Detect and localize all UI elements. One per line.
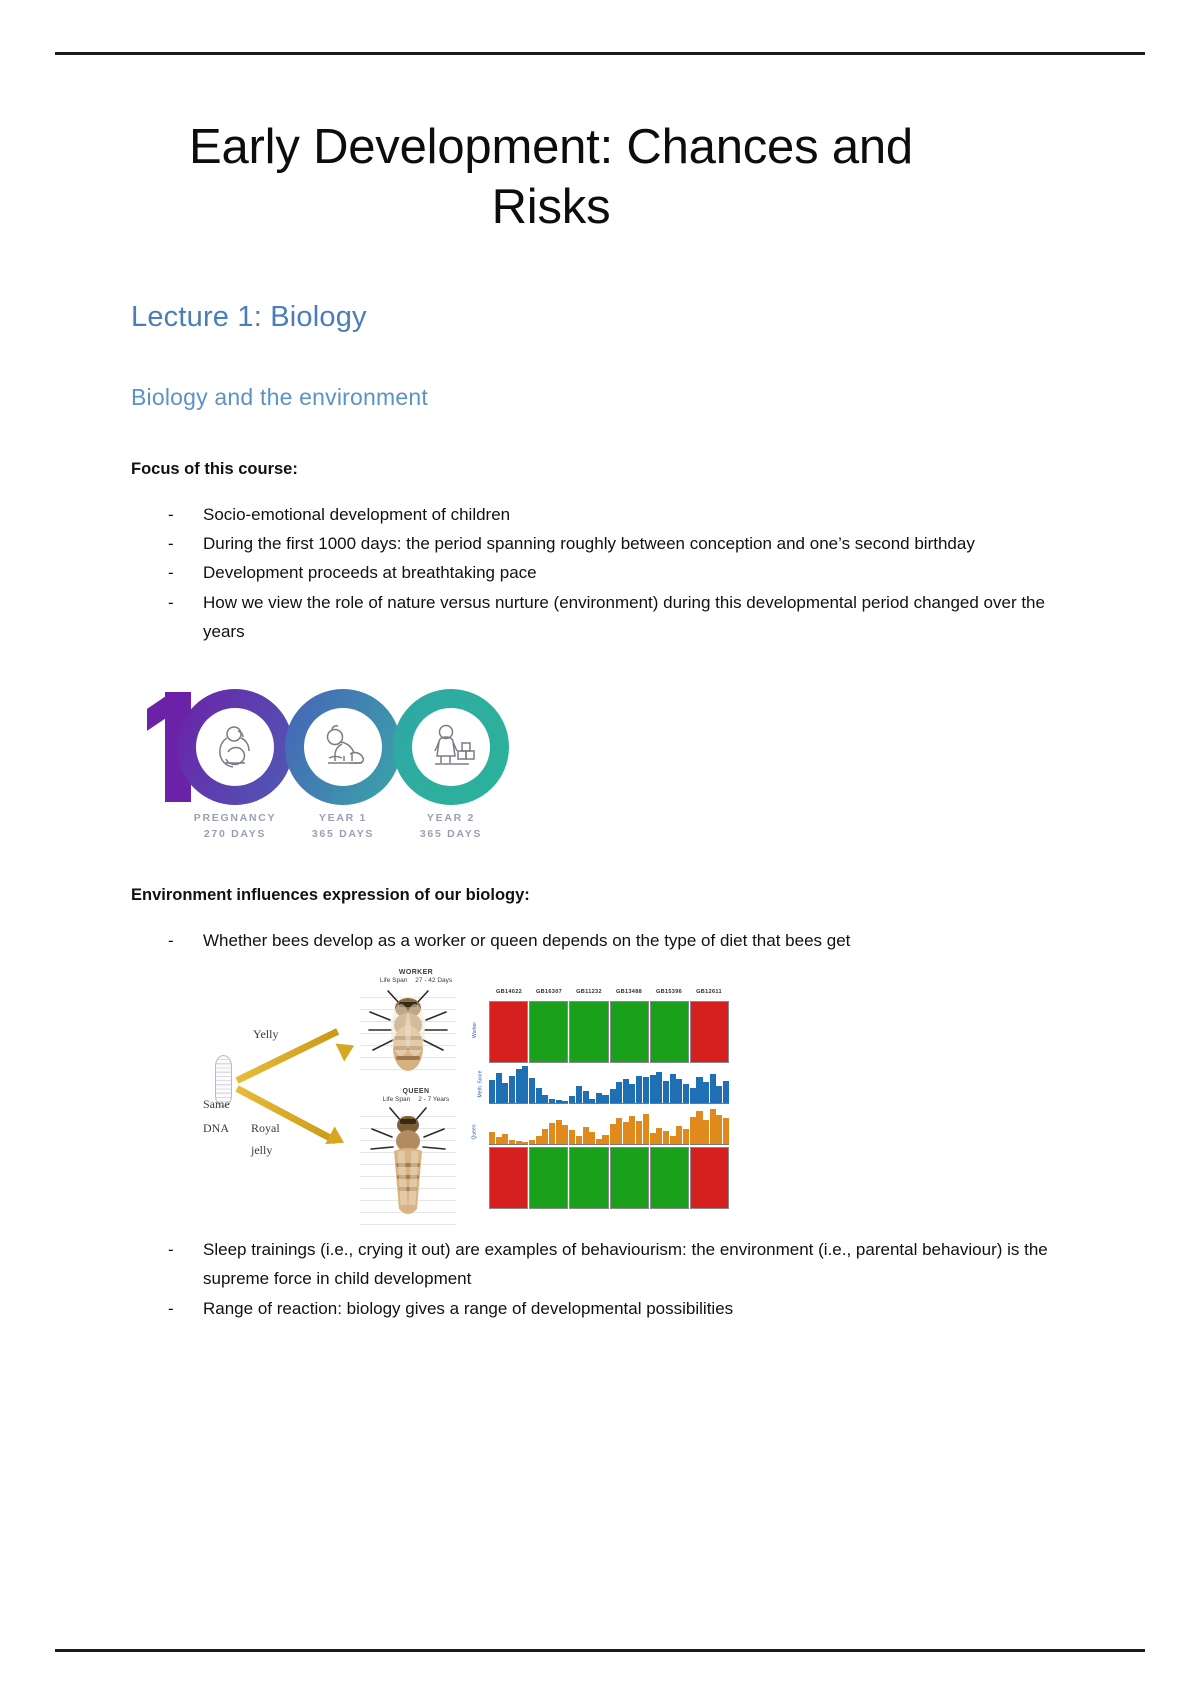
- arrow-bottom-label-line1: Royal: [251, 1121, 280, 1136]
- heatmap-row-worker: [489, 1001, 729, 1063]
- arrow-bottom-label-line2: jelly: [251, 1143, 272, 1158]
- bee-column: WORKER Life Span27 - 42 Days: [353, 969, 463, 1225]
- document-content: Early Development: Chances and Risks Lec…: [131, 118, 1071, 1323]
- focus-list: Socio-emotional development of children …: [131, 500, 1071, 646]
- stage-ring-year-2: [393, 689, 509, 805]
- page-bottom-rule: [55, 1649, 1145, 1652]
- bar-group: [690, 1105, 729, 1145]
- stage-days: 365 DAYS: [386, 826, 516, 842]
- worker-lifespan-label: Life Span: [380, 977, 407, 984]
- larva-label-line1: Same: [203, 1097, 230, 1112]
- bar-group: [610, 1064, 649, 1104]
- heatmap-axis-labels: Worker Meth. Score Queen: [473, 1001, 487, 1209]
- section-heading: Biology and the environment: [131, 384, 1071, 412]
- larva-label-line2: DNA: [203, 1121, 229, 1136]
- gene-label: GB16307: [529, 989, 569, 1001]
- queen-lifespan-value: 2 - 7 Years: [418, 1096, 449, 1103]
- lecture-heading: Lecture 1: Biology: [131, 300, 1071, 335]
- gene-label: GB12611: [689, 989, 729, 1001]
- gene-label: GB15396: [649, 989, 689, 1001]
- focus-lead: Focus of this course:: [131, 458, 1071, 482]
- worker-lifespan-value: 27 - 42 Days: [415, 977, 452, 984]
- worker-bee-image: [360, 986, 456, 1078]
- first-1000-days-logo: PREGNANCY 270 DAYS YEAR 1 365 DAYS YEAR …: [139, 684, 514, 854]
- bar-group: [650, 1064, 689, 1104]
- bar-group: [489, 1064, 528, 1104]
- list-item: Range of reaction: biology gives a range…: [166, 1294, 1071, 1323]
- arrow-top-label: Yelly: [253, 1027, 278, 1042]
- methylation-heatmap: GB14022 GB16307 GB11232 GB13488 GB15396 …: [471, 989, 729, 1185]
- queen-lifespan-label: Life Span: [383, 1096, 410, 1103]
- queen-title: QUEEN: [369, 1088, 463, 1095]
- arrow-to-worker: [235, 1028, 339, 1083]
- list-item: Development proceeds at breathtaking pac…: [166, 558, 1071, 587]
- logo-stage-captions: PREGNANCY 270 DAYS YEAR 1 365 DAYS YEAR …: [139, 810, 499, 854]
- heatmap-cell: [650, 1001, 689, 1063]
- page-top-rule: [55, 52, 1145, 55]
- list-item: How we view the role of nature versus nu…: [166, 588, 1071, 646]
- heatmap-methylation-bars-bottom: [489, 1105, 729, 1145]
- arrow-head-queen-icon: [325, 1127, 349, 1152]
- stage-ring-year-1: [285, 689, 401, 805]
- heatmap-cell: [529, 1001, 568, 1063]
- heatmap-cell: [569, 1001, 608, 1063]
- worker-lifespan: Life Span27 - 42 Days: [369, 977, 463, 984]
- heatmap-cell: [650, 1147, 689, 1209]
- heatmap-cell: [610, 1147, 649, 1209]
- document-page: Early Development: Chances and Risks Lec…: [0, 0, 1200, 1700]
- heatmap-row-queen: [489, 1147, 729, 1209]
- stage-label: YEAR 2: [386, 810, 516, 826]
- toddler-playing-icon: [422, 718, 480, 776]
- bar-group: [529, 1105, 568, 1145]
- axis-label-worker: Worker: [472, 1022, 478, 1038]
- heatmap-gene-labels: GB14022 GB16307 GB11232 GB13488 GB15396 …: [489, 989, 729, 1001]
- bar-group: [690, 1064, 729, 1104]
- heatmap-cell: [489, 1001, 528, 1063]
- environment-lead: Environment influences expression of our…: [131, 884, 1071, 908]
- worker-title: WORKER: [369, 969, 463, 976]
- queen-lifespan: Life Span2 - 7 Years: [369, 1096, 463, 1103]
- heatmap-cell: [529, 1147, 568, 1209]
- gene-label: GB11232: [569, 989, 609, 1001]
- bee-epigenetics-figure: Same DNA Yelly Royal jelly WORKER Life S…: [203, 969, 743, 1229]
- heatmap-cell: [690, 1147, 729, 1209]
- baby-crawling-icon: [314, 718, 372, 776]
- heatmap-cell: [690, 1001, 729, 1063]
- heatmap-cell: [489, 1147, 528, 1209]
- bar-group: [650, 1105, 689, 1145]
- queen-bee-image: [360, 1105, 456, 1225]
- bar-group: [569, 1105, 608, 1145]
- heatmap-body: Worker Meth. Score Queen: [489, 1001, 729, 1209]
- list-item: Sleep trainings (i.e., crying it out) ar…: [166, 1235, 1071, 1293]
- bar-group: [489, 1105, 528, 1145]
- gene-label: GB14022: [489, 989, 529, 1001]
- bar-group: [529, 1064, 568, 1104]
- heatmap-cell: [610, 1001, 649, 1063]
- heatmap-cell: [569, 1147, 608, 1209]
- list-item: During the first 1000 days: the period s…: [166, 529, 1071, 558]
- stage-ring-pregnancy: [177, 689, 293, 805]
- list-item: Socio-emotional development of children: [166, 500, 1071, 529]
- environment-list-top: Whether bees develop as a worker or quee…: [131, 926, 1071, 955]
- pregnancy-icon: [207, 719, 263, 775]
- heatmap-methylation-bars-top: [489, 1064, 729, 1104]
- gene-label: GB13488: [609, 989, 649, 1001]
- bar-group: [569, 1064, 608, 1104]
- list-item: Whether bees develop as a worker or quee…: [166, 926, 1071, 955]
- bar-group: [610, 1105, 649, 1145]
- environment-list-bottom: Sleep trainings (i.e., crying it out) ar…: [131, 1235, 1071, 1323]
- page-title: Early Development: Chances and Risks: [131, 118, 971, 238]
- axis-label-meth: Meth. Score: [477, 1071, 483, 1098]
- axis-label-queen: Queen: [472, 1125, 478, 1140]
- stage-caption-year-2: YEAR 2 365 DAYS: [386, 810, 516, 843]
